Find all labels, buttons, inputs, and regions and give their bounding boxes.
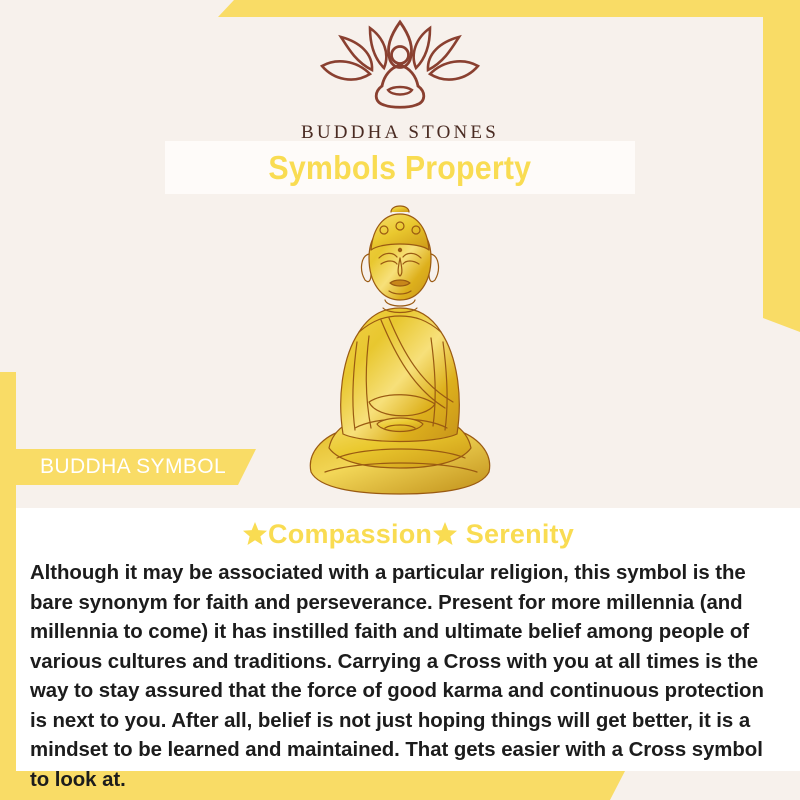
traits-heading: Compassion Serenity [16,508,800,552]
decor-frame-top-bar [218,0,800,17]
star-icon [243,521,267,552]
page-title: Symbols Property [269,149,532,187]
poster-canvas: BUDDHA STONES Symbols Property [0,0,800,800]
seated-golden-buddha-meditation-icon [285,196,515,513]
star-icon [433,521,457,552]
trait-first: Compassion [268,519,432,549]
body-paragraph: Although it may be associated with a par… [16,559,800,795]
ribbon-label: BUDDHA SYMBOL [16,455,226,479]
content-panel: Compassion Serenity Although it may be a… [16,508,800,771]
title-banner: Symbols Property [165,141,635,194]
brand-header: BUDDHA STONES [0,18,800,144]
buddha-symbol-ribbon: BUDDHA SYMBOL [16,449,256,485]
lotus-meditation-figure-icon [0,18,800,118]
trait-second: Serenity [466,519,574,549]
